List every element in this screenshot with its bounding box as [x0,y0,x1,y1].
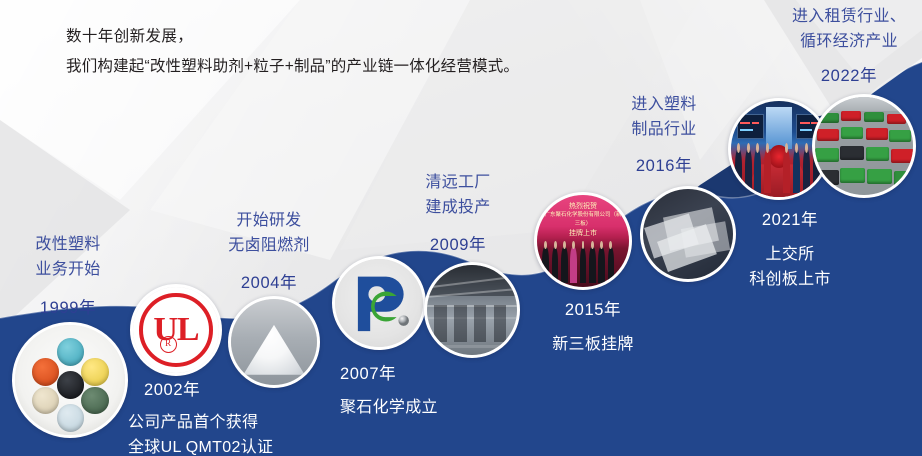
milestone-2004-caption: 开始研发 无卤阻燃剂 2004年 [205,208,333,296]
milestone-2007-photo[interactable] [332,256,426,350]
milestone-2015-caption: 2015年 新三板挂牌 [528,298,658,357]
milestone-2009-caption: 清远工厂 建成投产 2009年 [396,170,520,258]
milestone-2007-line-1: 聚石化学成立 [340,395,540,420]
milestone-2007-caption: 2007年 聚石化学成立 [340,362,540,420]
returnable-plastic-crates-photo [815,97,913,195]
milestone-2004-line-1: 开始研发 [205,208,333,233]
milestone-2015-photo[interactable]: 热烈祝贺 广东聚石化学股份有限公司（新三板） 挂牌上市 [534,192,632,290]
milestone-2016-caption: 进入塑料 制品行业 2016年 [604,92,724,179]
milestone-2022-caption: 进入租赁行业、 循环经济产业 2022年 [778,4,920,89]
milestone-2016-year: 2016年 [604,154,724,179]
heading-line-2: 我们构建起“改性塑料助剂+粒子+制品”的产业链一体化经营模式。 [66,52,746,82]
milestone-2021-year: 2021年 [722,208,858,233]
milestone-2002-line-2: 全球UL QMT02认证 [128,435,358,456]
ceremony-banner-text: 热烈祝贺 广东聚石化学股份有限公司（新三板） 挂牌上市 [544,202,621,238]
milestone-2015-year: 2015年 [528,298,658,323]
colored-plastic-pellets-photo [15,325,125,435]
milestone-2009-line-1: 清远工厂 [396,170,520,195]
milestone-2009-photo[interactable] [424,262,520,358]
page-title: 数十年创新发展， 我们构建起“改性塑料助剂+粒子+制品”的产业链一体化经营模式。 [66,22,746,82]
milestone-2015-line-1: 新三板挂牌 [528,332,658,357]
ul-mark-text: UL [133,287,219,373]
milestone-2021-line-1: 上交所 [722,242,858,267]
milestone-2002-line-1: 公司产品首个获得 [128,410,358,435]
milestone-2004-line-2: 无卤阻燃剂 [205,233,333,258]
milestone-2004-photo[interactable] [228,296,320,388]
milestone-2022-line-2: 循环经济产业 [778,29,920,54]
milestone-2002-photo[interactable]: UL R [130,284,222,376]
milestone-2022-photo[interactable] [812,94,916,198]
milestone-2021-line-2: 科创板上市 [722,267,858,292]
milestone-2016-line-2: 制品行业 [604,117,724,142]
milestone-2016-line-1: 进入塑料 [604,92,724,117]
milestone-2022-line-1: 进入租赁行业、 [778,4,920,29]
milestone-2007-year: 2007年 [340,362,540,387]
qingyuan-factory-production-line-photo [427,265,517,355]
milestone-1999-line-1: 改性塑料 [8,232,128,257]
milestone-1999-caption: 改性塑料 业务开始 1999年 [8,232,128,321]
registered-trademark-icon: R [160,336,177,353]
milestone-1999-line-2: 业务开始 [8,257,128,282]
jushi-chemical-company-logo [335,259,423,347]
milestone-2002-caption: 2002年 公司产品首个获得 全球UL QMT02认证 [128,378,358,456]
milestone-2021-caption: 2021年 上交所 科创板上市 [722,208,858,292]
neeq-listing-ceremony-photo: 热烈祝贺 广东聚石化学股份有限公司（新三板） 挂牌上市 [537,195,629,287]
ul-certification-logo: UL R [133,287,219,373]
milestone-2009-line-2: 建成投产 [396,195,520,220]
milestone-1999-photo[interactable] [12,322,128,438]
milestone-1999-year: 1999年 [8,296,128,321]
ceremony-attendees [541,247,626,284]
milestone-2009-year: 2009年 [396,233,520,258]
white-flame-retardant-powder-photo [231,299,317,385]
heading-line-1: 数十年创新发展， [66,22,746,52]
translucent-plastic-sheets-photo [643,189,733,279]
milestone-2004-year: 2004年 [205,271,333,296]
timeline-infographic: 数十年创新发展， 我们构建起“改性塑料助剂+粒子+制品”的产业链一体化经营模式。… [0,0,922,456]
milestone-2022-year: 2022年 [778,64,920,89]
